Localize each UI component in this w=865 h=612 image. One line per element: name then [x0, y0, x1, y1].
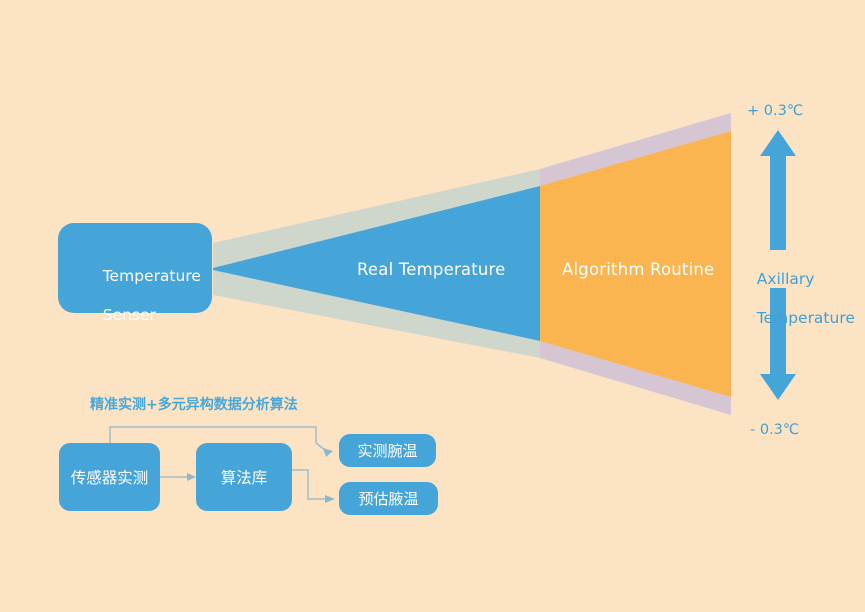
- tolerance-lower-label: - 0.3℃: [750, 421, 799, 440]
- real-temperature-label: Real Temperature: [357, 259, 506, 280]
- estimated-axillary-temp-label: 预估腋温: [339, 488, 438, 509]
- axillary-line1: Axillary: [757, 270, 815, 288]
- temperature-senser-line1: Temperature: [103, 267, 201, 285]
- algorithm-library-label: 算法库: [196, 466, 292, 488]
- tolerance-upper-label: + 0.3℃: [747, 102, 803, 121]
- algorithm-library-label-wrap: 算法库: [196, 443, 292, 511]
- temperature-senser-line2: Senser: [103, 306, 156, 324]
- axillary-temperature-label: Axillary Temperature: [737, 250, 855, 349]
- connector-algorithm-to-axillary-temp: [292, 470, 335, 503]
- sensor-measure-label: 传感器实测: [59, 466, 160, 488]
- tolerance-up-arrow: [760, 130, 796, 250]
- temperature-senser-label: Temperature Senser: [83, 247, 201, 346]
- sensor-measure-label-wrap: 传感器实测: [59, 443, 160, 511]
- measured-wrist-temp-label-wrap: 实测腕温: [339, 434, 436, 467]
- diagram-canvas: Temperature Senser Real Temperature Algo…: [0, 0, 865, 612]
- estimated-axillary-temp-label-wrap: 预估腋温: [339, 482, 438, 515]
- algorithm-routine-label: Algorithm Routine: [562, 259, 714, 280]
- axillary-line2: Temperature: [757, 309, 855, 327]
- connector-sensor-to-algorithm: [160, 473, 196, 481]
- measured-wrist-temp-label: 实测腕温: [339, 440, 436, 461]
- flowchart-title: 精准实测+多元异构数据分析算法: [90, 397, 298, 415]
